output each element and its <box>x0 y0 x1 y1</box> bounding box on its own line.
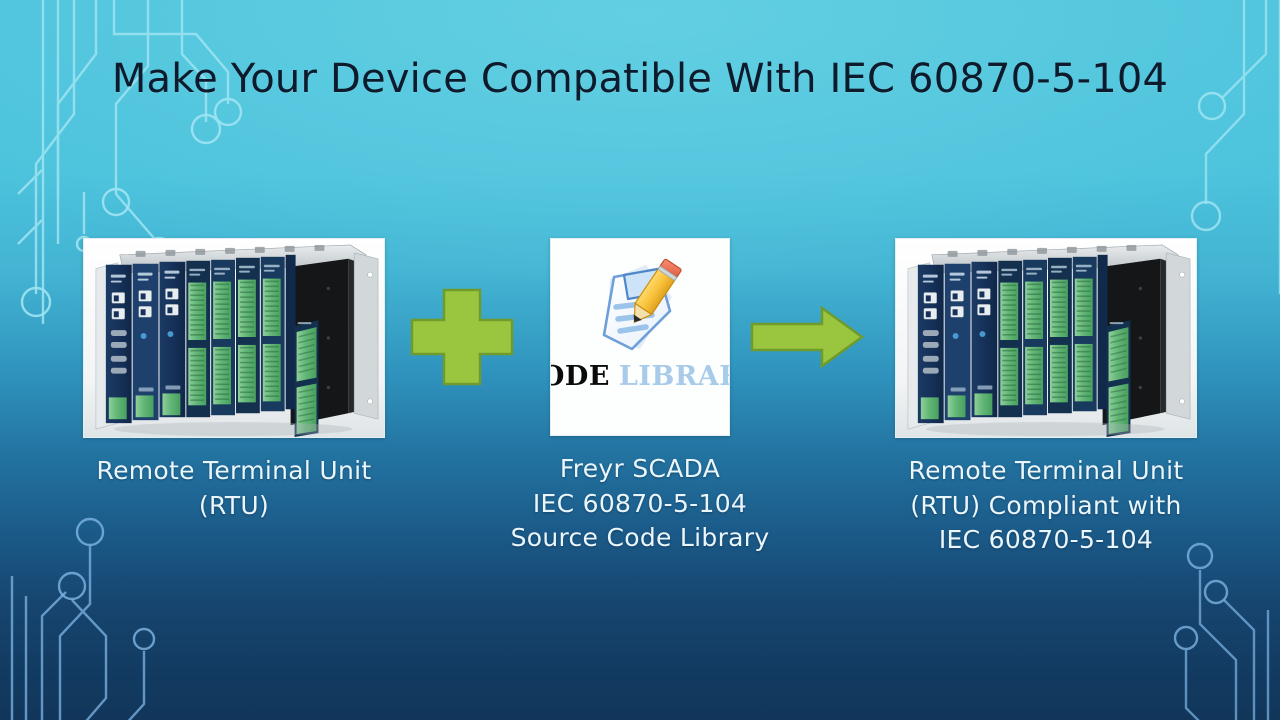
code-library-wordmark: CODELIBRARY <box>550 363 730 390</box>
rtu-output-image <box>895 238 1197 438</box>
rtu-input-image <box>83 238 385 438</box>
diagram-node-rtu-input: Remote Terminal Unit (RTU) <box>60 238 408 523</box>
wordmark-library: LIBRARY <box>619 361 730 392</box>
rtu-rack-photo <box>896 239 1196 437</box>
notepad-pencil-icon <box>588 253 692 357</box>
code-library-image: CODELIBRARY <box>550 238 730 436</box>
code-library-caption: Freyr SCADA IEC 60870-5-104 Source Code … <box>462 452 818 556</box>
page-title: Make Your Device Compatible With IEC 608… <box>0 56 1280 102</box>
diagram-node-code-library: CODELIBRARY Freyr SCADA IEC 60870-5-104 … <box>462 238 818 556</box>
rtu-rack-photo <box>84 239 384 437</box>
rtu-output-caption: Remote Terminal Unit (RTU) Compliant wit… <box>872 454 1220 558</box>
slide-canvas: Make Your Device Compatible With IEC 608… <box>0 0 1280 720</box>
diagram-node-rtu-output: Remote Terminal Unit (RTU) Compliant wit… <box>872 238 1220 558</box>
arrow-right-icon <box>748 302 866 372</box>
wordmark-code: CODE <box>550 361 610 392</box>
rtu-input-caption: Remote Terminal Unit (RTU) <box>60 454 408 523</box>
diagram-flow: Remote Terminal Unit (RTU) <box>0 238 1280 608</box>
